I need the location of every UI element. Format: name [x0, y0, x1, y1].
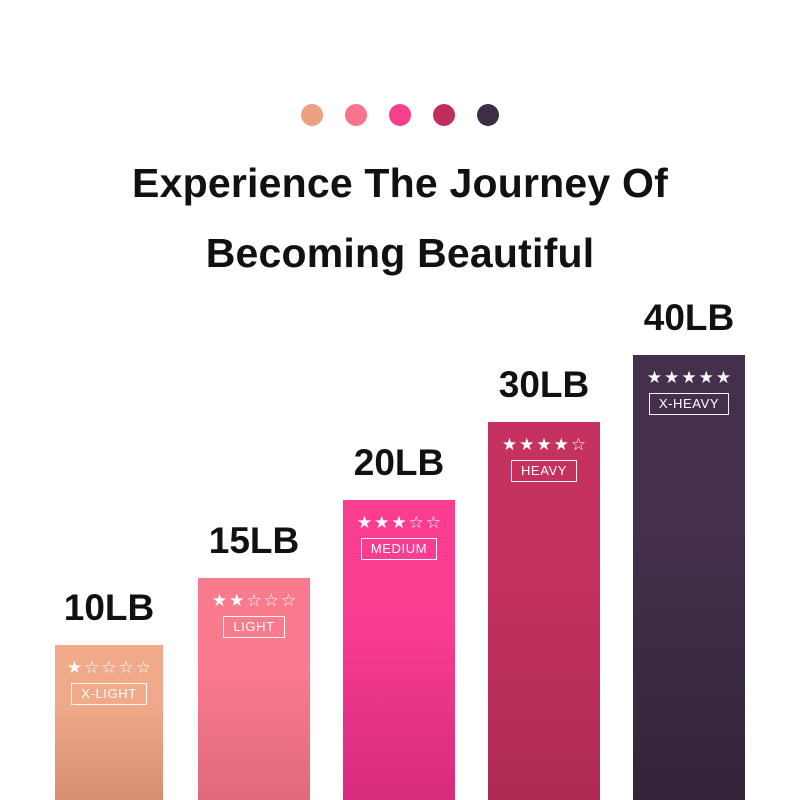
star-empty-icon: ☆ — [101, 659, 116, 676]
bar-group-30lb: 30LB★★★★☆HEAVY — [488, 365, 600, 800]
bar-fill — [633, 355, 745, 800]
star-filled-icon: ★ — [681, 369, 696, 386]
star-empty-icon: ☆ — [409, 514, 424, 531]
star-empty-icon: ☆ — [571, 436, 586, 453]
bar-weight-label: 30LB — [488, 365, 600, 405]
star-filled-icon: ★ — [502, 436, 517, 453]
star-filled-icon: ★ — [554, 436, 569, 453]
level-badge: HEAVY — [511, 460, 577, 482]
star-rating: ★★☆☆☆ — [212, 592, 296, 609]
bar-weight-label: 10LB — [55, 588, 163, 628]
star-filled-icon: ★ — [699, 369, 714, 386]
star-filled-icon: ★ — [647, 369, 662, 386]
bar-rating-block: ★★☆☆☆LIGHT — [198, 592, 310, 638]
star-filled-icon: ★ — [374, 514, 389, 531]
resistance-band-infographic: Experience The Journey Of Becoming Beaut… — [0, 0, 800, 800]
bar-weight-label: 40LB — [633, 298, 745, 338]
bar-column[interactable]: ★★★★★X-HEAVY — [633, 355, 745, 800]
bar-column[interactable]: ★★★☆☆MEDIUM — [343, 500, 455, 800]
star-empty-icon: ☆ — [426, 514, 441, 531]
bar-group-20lb: 20LB★★★☆☆MEDIUM — [343, 443, 455, 800]
star-filled-icon: ★ — [391, 514, 406, 531]
bar-weight-label: 20LB — [343, 443, 455, 483]
bar-rating-block: ★☆☆☆☆X-LIGHT — [55, 659, 163, 705]
bar-column[interactable]: ★★★★☆HEAVY — [488, 422, 600, 800]
level-badge: X-HEAVY — [649, 393, 729, 415]
star-rating: ★★★☆☆ — [357, 514, 441, 531]
star-empty-icon: ☆ — [136, 659, 151, 676]
bar-rating-block: ★★★★☆HEAVY — [488, 436, 600, 482]
level-badge: MEDIUM — [361, 538, 437, 560]
star-filled-icon: ★ — [536, 436, 551, 453]
bar-column[interactable]: ★★☆☆☆LIGHT — [198, 578, 310, 800]
star-filled-icon: ★ — [212, 592, 227, 609]
level-badge: X-LIGHT — [71, 683, 146, 705]
star-empty-icon: ☆ — [264, 592, 279, 609]
star-empty-icon: ☆ — [246, 592, 261, 609]
bar-group-15lb: 15LB★★☆☆☆LIGHT — [198, 521, 310, 800]
star-empty-icon: ☆ — [281, 592, 296, 609]
bar-chart: 10LB★☆☆☆☆X-LIGHT15LB★★☆☆☆LIGHT20LB★★★☆☆M… — [0, 0, 800, 800]
star-filled-icon: ★ — [519, 436, 534, 453]
star-rating: ★★★★☆ — [502, 436, 586, 453]
bar-group-10lb: 10LB★☆☆☆☆X-LIGHT — [55, 588, 163, 800]
star-filled-icon: ★ — [664, 369, 679, 386]
level-badge: LIGHT — [223, 616, 284, 638]
star-filled-icon: ★ — [229, 592, 244, 609]
star-filled-icon: ★ — [716, 369, 731, 386]
bar-rating-block: ★★★★★X-HEAVY — [633, 369, 745, 415]
star-empty-icon: ☆ — [84, 659, 99, 676]
bar-column[interactable]: ★☆☆☆☆X-LIGHT — [55, 645, 163, 800]
star-filled-icon: ★ — [357, 514, 372, 531]
star-empty-icon: ☆ — [119, 659, 134, 676]
star-filled-icon: ★ — [67, 659, 82, 676]
bar-group-40lb: 40LB★★★★★X-HEAVY — [633, 298, 745, 800]
star-rating: ★☆☆☆☆ — [67, 659, 151, 676]
star-rating: ★★★★★ — [647, 369, 731, 386]
bar-weight-label: 15LB — [198, 521, 310, 561]
bar-rating-block: ★★★☆☆MEDIUM — [343, 514, 455, 560]
